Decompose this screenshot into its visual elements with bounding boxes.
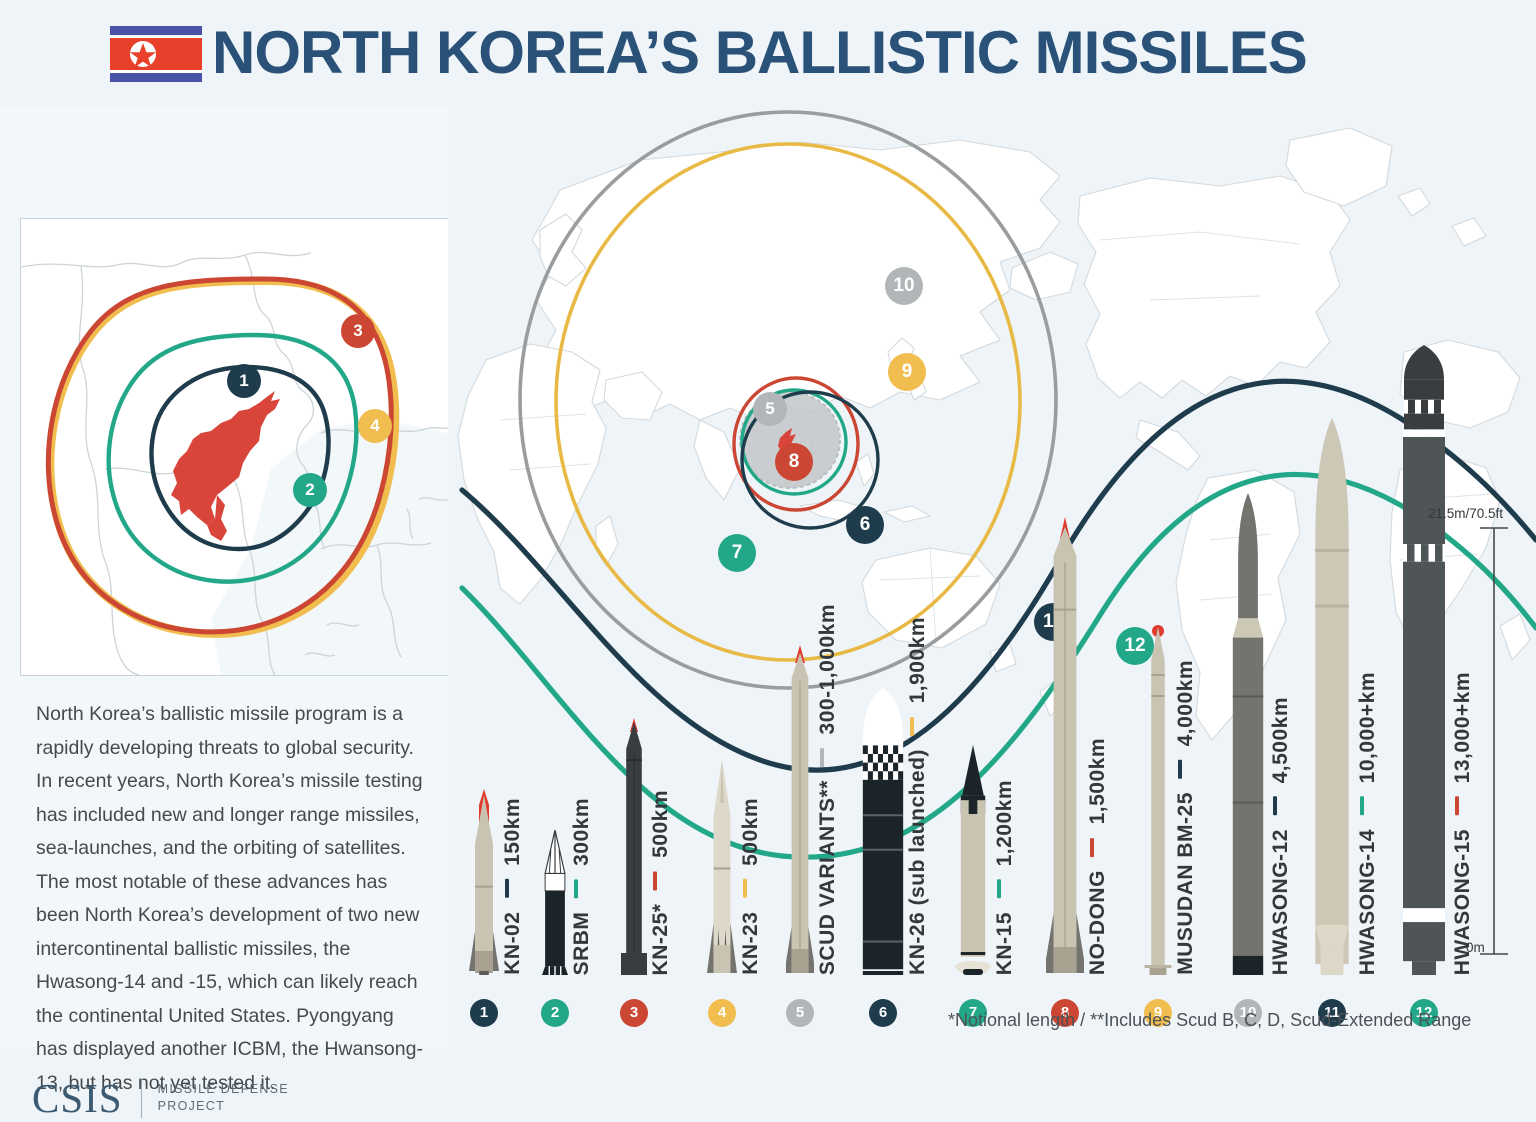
- north-korea-flag-icon: [110, 26, 202, 82]
- missile-badge-5[interactable]: 5: [786, 999, 814, 1027]
- missile-label: SCUD VARIANTS** 300-1,000km: [817, 604, 838, 975]
- missile-range: 1,200km: [993, 780, 1016, 866]
- accent-divider: [1090, 838, 1094, 857]
- inset-marker-2[interactable]: 2: [293, 473, 327, 507]
- accent-divider: [1273, 796, 1277, 815]
- missile-silhouette: [1229, 493, 1267, 975]
- missile-silhouette: [1144, 625, 1172, 975]
- scale-top-label: 21.5m/70.5ft: [1428, 506, 1503, 521]
- page-title: NORTH KOREA’S BALLISTIC MISSILES: [212, 16, 1512, 90]
- logo-sub-line2: PROJECT: [158, 1099, 225, 1113]
- missile-label: KN-23 500km: [740, 798, 761, 975]
- missile-label: SRBM 300km: [571, 798, 592, 975]
- missile-silhouette: [1310, 418, 1354, 975]
- missile-range: 4,500km: [1269, 697, 1292, 783]
- accent-divider: [653, 871, 657, 890]
- left-panel: 1 2 3 4 North Korea’s ballistic missile …: [0, 106, 448, 1047]
- missile-label: KN-26 (sub launched) 1,900km: [907, 617, 928, 975]
- missile-name: HWASONG-14: [1356, 829, 1379, 975]
- missile-name: SCUD VARIANTS**: [816, 780, 839, 975]
- missile-badge-3[interactable]: 3: [620, 999, 648, 1027]
- accent-divider: [820, 748, 824, 767]
- csis-sublabel: MISSILE DEFENSEPROJECT: [158, 1081, 289, 1115]
- missile-range: 500km: [649, 790, 672, 858]
- accent-divider: [1360, 796, 1364, 815]
- missile-range: 13,000+km: [1451, 672, 1474, 783]
- missile-range: 10,000+km: [1356, 672, 1379, 783]
- inset-marker-4[interactable]: 4: [358, 409, 392, 443]
- missile-silhouette: [1399, 345, 1449, 975]
- missile-label: KN-02 150km: [502, 798, 523, 975]
- accent-divider: [1455, 796, 1459, 815]
- missile-range: 150km: [501, 798, 524, 866]
- accent-divider: [574, 879, 578, 898]
- missile-silhouette: [707, 760, 737, 975]
- missile-range: 1,900km: [906, 617, 929, 703]
- missile-label: HWASONG-14 10,000+km: [1357, 672, 1378, 975]
- missile-name: HWASONG-12: [1269, 829, 1292, 975]
- missile-name: MUSUDAN BM-25: [1174, 792, 1197, 975]
- missile-label: KN-15 1,200km: [994, 780, 1015, 975]
- missile-name: KN-02: [501, 912, 524, 975]
- inset-range-map: 1 2 3 4: [20, 218, 452, 676]
- accent-divider: [997, 879, 1001, 898]
- missile-badge-6[interactable]: 6: [869, 999, 897, 1027]
- missile-name: KN-26 (sub launched): [906, 749, 929, 975]
- missile-range: 500km: [739, 798, 762, 866]
- missile-badge-4[interactable]: 4: [708, 999, 736, 1027]
- missile-name: KN-23: [739, 912, 762, 975]
- missile-silhouette: [786, 645, 814, 975]
- accent-divider: [1178, 760, 1182, 779]
- missile-name: KN-15: [993, 912, 1016, 975]
- missile-range: 4,000km: [1174, 660, 1197, 746]
- accent-divider: [505, 879, 509, 898]
- logo-sub-line1: MISSILE DEFENSE: [158, 1082, 289, 1096]
- accent-divider: [910, 717, 914, 736]
- missile-label: HWASONG-15 13,000+km: [1452, 672, 1473, 975]
- missile-silhouette: [469, 789, 499, 975]
- logo-divider: [141, 1078, 142, 1118]
- missile-silhouette: [862, 688, 904, 975]
- footnote: *Notional length / **Includes Scud B, C,…: [948, 1010, 1471, 1031]
- csis-wordmark: CSIS: [32, 1074, 123, 1122]
- missile-name: NO-DONG: [1086, 870, 1109, 975]
- missile-range: 300km: [570, 798, 593, 866]
- infographic-root: NORTH KOREA’S BALLISTIC MISSILES: [0, 0, 1536, 1047]
- missile-lineup: KN-02 150km1SRBM 300km2KN-25* 500km3KN-2…: [448, 106, 1536, 1047]
- header: NORTH KOREA’S BALLISTIC MISSILES: [0, 0, 1536, 106]
- csis-logo: CSISMISSILE DEFENSEPROJECT: [32, 1074, 289, 1122]
- scale-bottom-label: 0m: [1466, 940, 1485, 955]
- inset-marker-1[interactable]: 1: [227, 364, 261, 398]
- accent-divider: [743, 879, 747, 898]
- missile-badge-2[interactable]: 2: [541, 999, 569, 1027]
- missile-range: 300-1,000km: [816, 604, 839, 734]
- description-text: North Korea’s ballistic missile program …: [36, 698, 428, 1100]
- inset-marker-3[interactable]: 3: [341, 314, 375, 348]
- missile-label: HWASONG-12 4,500km: [1270, 697, 1291, 975]
- missile-label: KN-25* 500km: [650, 790, 671, 975]
- missile-silhouette: [955, 745, 991, 975]
- missile-name: KN-25*: [649, 903, 672, 975]
- missile-silhouette: [621, 718, 647, 975]
- missile-label: NO-DONG 1,500km: [1087, 738, 1108, 975]
- missile-silhouette: [1046, 517, 1084, 975]
- missile-silhouette: [542, 830, 568, 975]
- missile-badge-1[interactable]: 1: [470, 999, 498, 1027]
- missile-name: SRBM: [570, 911, 593, 975]
- missile-range: 1,500km: [1086, 738, 1109, 824]
- missile-label: MUSUDAN BM-25 4,000km: [1175, 660, 1196, 975]
